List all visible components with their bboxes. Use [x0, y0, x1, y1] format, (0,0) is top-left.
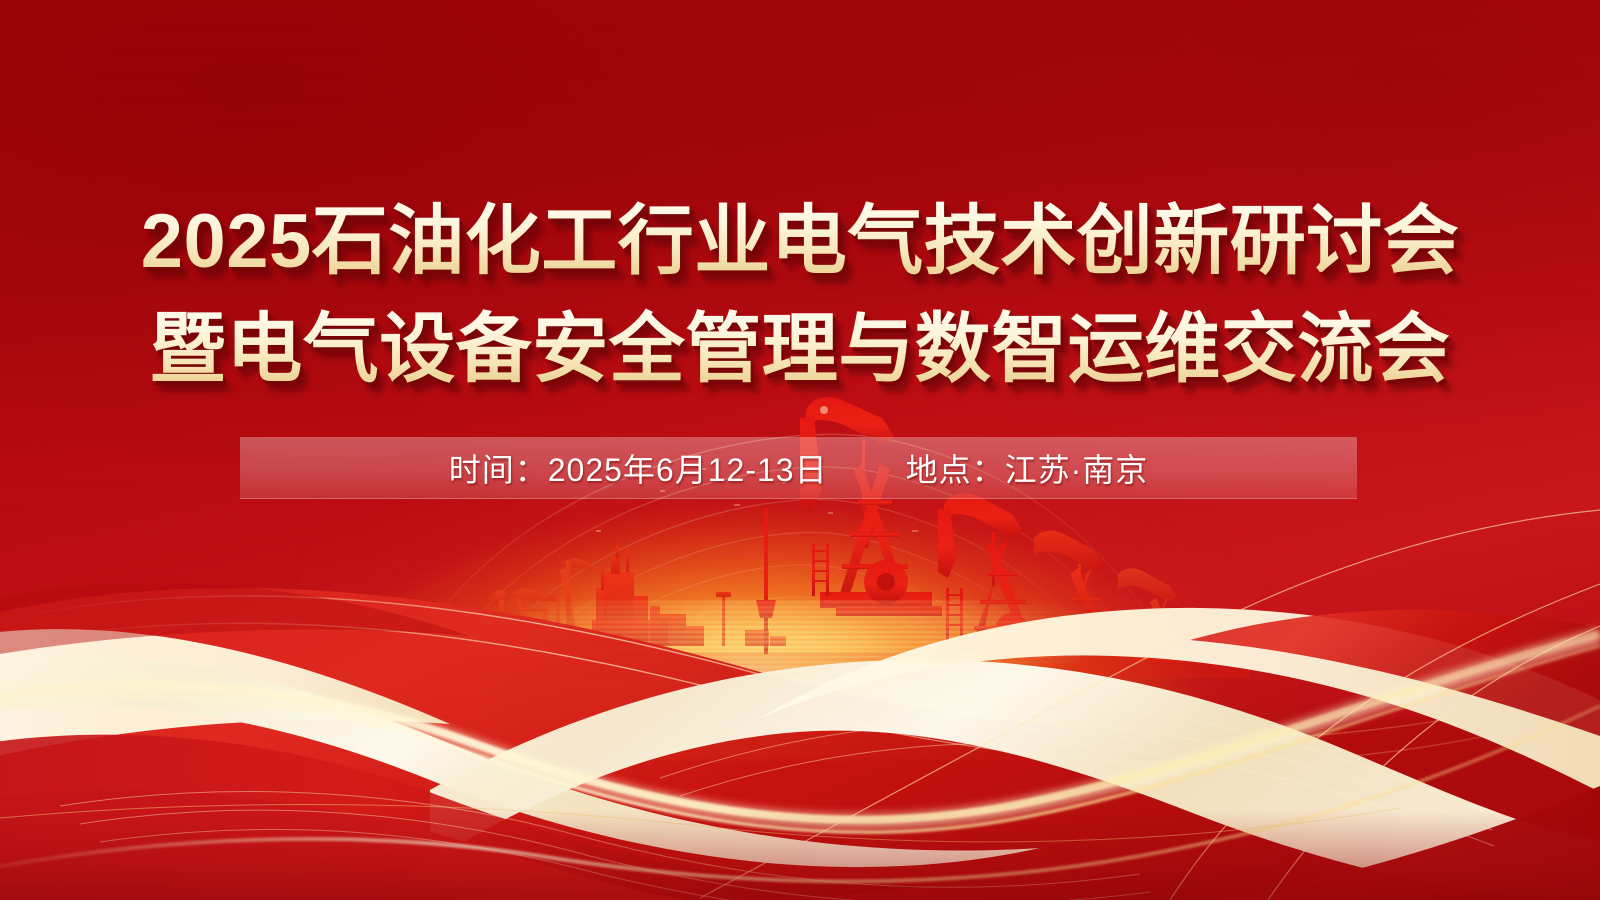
event-location: 地点：江苏·南京: [906, 445, 1149, 491]
event-info-band: 时间：2025年6月12-13日 地点：江苏·南京: [240, 437, 1357, 499]
title-line-2: 暨电气设备安全管理与数智运维交流会: [0, 304, 1600, 396]
conference-banner: 2025石油化工行业电气技术创新研讨会 暨电气设备安全管理与数智运维交流会 时间…: [0, 0, 1600, 900]
page-title: 2025石油化工行业电气技术创新研讨会 暨电气设备安全管理与数智运维交流会: [0, 196, 1600, 396]
event-date: 时间：2025年6月12-13日: [449, 445, 828, 491]
title-line-1: 2025石油化工行业电气技术创新研讨会: [0, 196, 1600, 288]
